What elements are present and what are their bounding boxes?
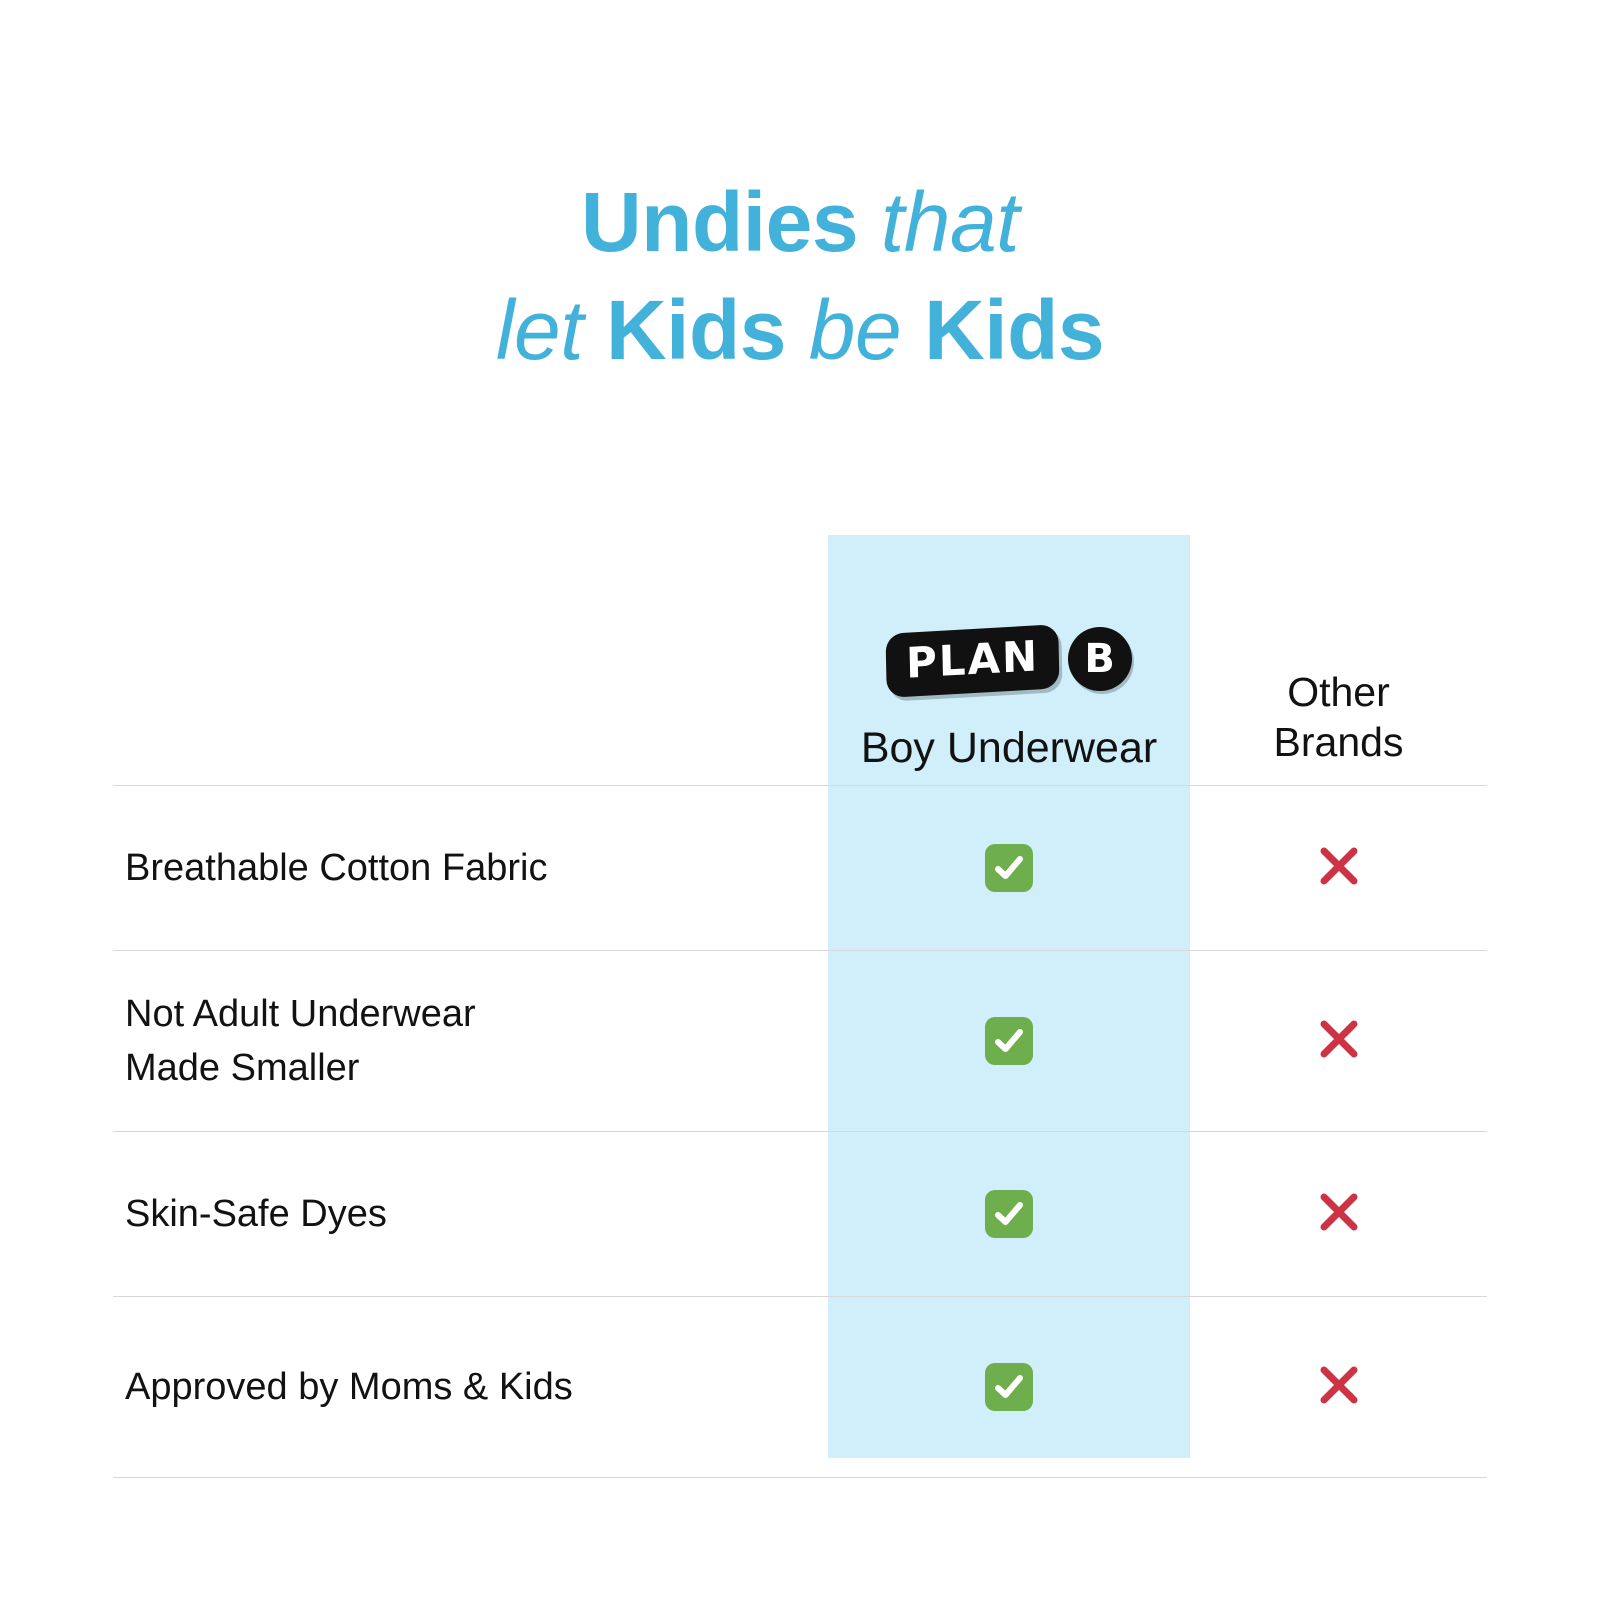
feature-cell: Approved by Moms & Kids — [113, 1360, 828, 1414]
table-divider — [113, 1477, 1487, 1478]
feature-label: Skin-Safe Dyes — [125, 1187, 828, 1241]
x-icon — [1315, 1361, 1363, 1414]
header-plan-b-cell: PLAN B Boy Underwear — [828, 613, 1190, 785]
headline-word-let: let — [496, 283, 606, 377]
other-brands-cell — [1190, 842, 1487, 895]
header-other-brands-cell: Other Brands — [1190, 667, 1487, 785]
x-icon — [1315, 1015, 1363, 1068]
other-brands-cell — [1190, 1361, 1487, 1414]
headline-line-1: Undies that — [0, 168, 1600, 276]
feature-cell: Not Adult Underwear Made Smaller — [113, 987, 828, 1095]
other-brands-cell — [1190, 1015, 1487, 1068]
check-icon — [985, 844, 1033, 892]
page-title: Undies that let Kids be Kids — [0, 168, 1600, 384]
other-brands-line-2: Brands — [1190, 717, 1487, 767]
plan-badge-label: PLAN — [906, 634, 1040, 685]
headline-word-undies: Undies — [581, 175, 858, 269]
plan-b-cell — [828, 1190, 1190, 1238]
headline-word-kids-2: Kids — [924, 283, 1104, 377]
comparison-table: PLAN B Boy Underwear Other Brands Breath… — [113, 535, 1487, 1478]
headline-line-2: let Kids be Kids — [0, 276, 1600, 384]
b-badge: B — [1068, 627, 1132, 691]
x-icon — [1315, 1188, 1363, 1241]
table-row: Breathable Cotton Fabric — [113, 786, 1487, 950]
plan-b-cell — [828, 1017, 1190, 1065]
plan-b-subtitle: Boy Underwear — [828, 723, 1190, 773]
feature-cell: Breathable Cotton Fabric — [113, 841, 828, 895]
x-icon — [1315, 842, 1363, 895]
plan-b-cell — [828, 1363, 1190, 1411]
feature-label-line-2: Made Smaller — [125, 1041, 828, 1095]
headline-word-that: that — [858, 175, 1019, 269]
plan-b-logo: PLAN B — [828, 613, 1190, 709]
headline-word-be: be — [786, 283, 924, 377]
check-icon — [985, 1017, 1033, 1065]
check-icon — [985, 1190, 1033, 1238]
comparison-infographic: Undies that let Kids be Kids PLAN B Boy … — [0, 0, 1600, 1600]
table-header-row: PLAN B Boy Underwear Other Brands — [113, 535, 1487, 785]
feature-label: Breathable Cotton Fabric — [125, 841, 828, 895]
other-brands-line-1: Other — [1190, 667, 1487, 717]
feature-label: Not Adult Underwear — [125, 987, 828, 1041]
table-row: Approved by Moms & Kids — [113, 1297, 1487, 1477]
table-row: Not Adult Underwear Made Smaller — [113, 951, 1487, 1131]
plan-badge: PLAN — [886, 624, 1060, 698]
check-icon — [985, 1363, 1033, 1411]
headline-word-kids-1: Kids — [606, 283, 786, 377]
plan-b-cell — [828, 844, 1190, 892]
other-brands-cell — [1190, 1188, 1487, 1241]
feature-label: Approved by Moms & Kids — [125, 1360, 828, 1414]
feature-cell: Skin-Safe Dyes — [113, 1187, 828, 1241]
table-row: Skin-Safe Dyes — [113, 1132, 1487, 1296]
